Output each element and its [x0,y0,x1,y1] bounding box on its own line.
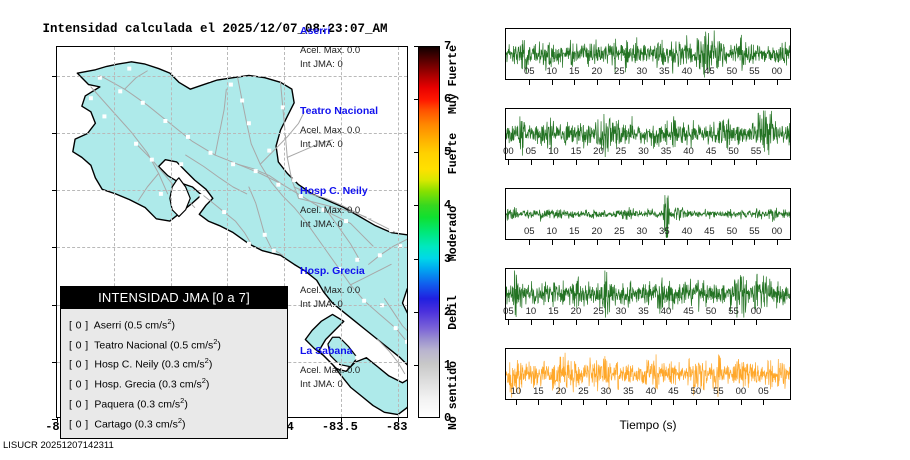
waveform-jma-intensity: Int JMA: 0 [300,379,343,390]
waveform-time-tick [732,80,733,85]
waveform-time-tick [709,240,710,245]
colorbar-category-label: Fuerte [447,133,460,174]
waveform-time-tick [734,320,735,325]
colorbar-category-label: Moderado [447,206,460,261]
legend-station-accel: 0.5 cm/s [174,339,214,351]
legend-station-accel: 0.5 cm/s [128,320,168,332]
legend-intensity-bracket: [ 0 ] [69,398,89,410]
legend-unit-exponent: 2 [178,416,182,425]
waveform-time-axis: 051015202530354045505500 [505,80,791,94]
waveform-time-tick [531,160,532,165]
legend-intensity-bracket: [ 0 ] [69,339,89,351]
waveform-time-tick [711,160,712,165]
map-xtick-label: -83 [367,420,427,434]
map-ytick [52,76,57,77]
map-ytick [52,362,57,363]
waveform-time-tick [643,320,644,325]
waveform-time-tick-label: 55 [743,146,769,157]
legend-intensity-bracket: [ 0 ] [69,379,89,391]
legend-station-row: [ 0 ] Teatro Nacional (0.5 cm/s2) [69,334,287,354]
footer-stamp: LISUCR 20251207142311 [3,440,114,451]
waveform-time-tick [741,400,742,405]
waveform-time-tick [552,240,553,245]
legend-station-name: Hosp C. Neily [94,359,158,371]
legend-header: INTENSIDAD JMA [0 a 7] [61,287,287,309]
waveform-time-tick [516,400,517,405]
map-title: Intensidad calculada el 2025/12/07_08:23… [0,22,430,36]
waveform-time-tick [576,320,577,325]
waveform-time-tick [508,160,509,165]
waveform-time-tick [598,160,599,165]
waveform-time-tick [687,240,688,245]
waveform-time-axis: 000510152025303540455055 [505,160,791,174]
waveform-time-tick [642,240,643,245]
waveform-time-axis: 101520253035404550550005 [505,400,791,414]
legend-station-accel: 0.3 cm/s [165,359,205,371]
waveform-time-tick [529,80,530,85]
waveform-max-accel: Acel. Max. 0.0 [300,125,360,136]
waveform-jma-intensity: Int JMA: 0 [300,139,343,150]
waveform-time-tick [621,160,622,165]
waveform-time-tick [538,400,539,405]
map-ytick [52,190,57,191]
legend-station-row: [ 0 ] Cartago (0.3 cm/s2) [69,413,287,433]
waveform-time-axis: 051015202530354045505500 [505,240,791,254]
waveform-time-tick [696,400,697,405]
waveform-station-name[interactable]: Hosp C. Neily [300,185,368,197]
legend-station-accel: 0.3 cm/s [162,379,202,391]
waveform-time-tick [709,80,710,85]
legend-station-list: [ 0 ] Aserri (0.5 cm/s2)[ 0 ] Teatro Nac… [61,309,287,438]
time-axis-label: Tiempo (s) [505,418,791,432]
legend-unit-exponent: 2 [213,337,217,346]
waveform-time-tick [597,240,598,245]
waveform-time-tick [756,320,757,325]
waveform-time-tick-label: 00 [743,306,769,317]
waveform-jma-intensity: Int JMA: 0 [300,59,343,70]
waveform-time-tick [621,320,622,325]
waveform-time-tick [664,240,665,245]
waveform-time-tick [576,160,577,165]
waveform-time-tick [606,400,607,405]
waveform-time-tick [651,400,652,405]
map-ytick [52,247,57,248]
legend-station-row: [ 0 ] Paquera (0.3 cm/s2) [69,393,287,413]
waveform-time-tick [619,240,620,245]
waveform-time-tick [711,320,712,325]
waveform-time-tick [777,240,778,245]
waveform-time-tick [531,320,532,325]
waveform-time-tick [561,400,562,405]
legend-station-row: [ 0 ] Hosp. Grecia (0.3 cm/s2) [69,373,287,393]
waveform-time-tick-label: 05 [750,386,776,397]
legend-station-name: Paquera [94,398,134,410]
waveform-time-tick [598,320,599,325]
waveform-time-tick [553,320,554,325]
waveform-time-axis: 051015202530354045505500 [505,320,791,334]
waveform-time-tick [642,80,643,85]
waveform-time-tick [687,80,688,85]
waveform-time-tick [664,80,665,85]
map-ytick [52,133,57,134]
colorbar-tick [414,99,418,100]
waveform-time-tick [643,160,644,165]
waveform-time-tick [529,240,530,245]
waveform-time-tick [754,80,755,85]
map-gridline-h [57,76,407,77]
waveform-time-tick [734,160,735,165]
colorbar-tick [414,365,418,366]
waveform-time-tick [574,80,575,85]
waveform-station-name[interactable]: Hosp. Grecia [300,265,365,277]
waveform-time-tick-label: 00 [764,226,790,237]
colorbar-tick [414,205,418,206]
waveform-time-tick [777,80,778,85]
legend-unit-exponent: 2 [180,396,184,405]
waveform-station-name[interactable]: La Sabana [300,345,353,357]
colorbar-gradient [418,46,440,418]
legend-station-name: Aserri [94,320,121,332]
legend-unit-exponent: 2 [205,356,209,365]
colorbar-category-label: Debil [447,296,460,331]
waveform-jma-intensity: Int JMA: 0 [300,299,343,310]
map-xtick-label: -83.5 [310,420,370,434]
map-ytick [52,305,57,306]
waveform-time-tick [508,320,509,325]
legend-unit-exponent: 2 [202,376,206,385]
waveform-time-tick [597,80,598,85]
legend-intensity-bracket: [ 0 ] [69,359,89,371]
waveform-station-name[interactable]: Aserri [300,25,330,37]
waveform-max-accel: Acel. Max. 0.0 [300,285,360,296]
colorbar-tick [414,152,418,153]
legend-station-name: Cartago [94,418,131,430]
waveform-time-tick [688,320,689,325]
legend-station-accel: 0.3 cm/s [138,418,178,430]
map-gridline-h [57,247,407,248]
legend-intensity-bracket: [ 0 ] [69,418,89,430]
waveform-time-tick [666,160,667,165]
waveform-time-tick [553,160,554,165]
waveform-max-accel: Acel. Max. 0.0 [300,45,360,56]
intensity-legend: INTENSIDAD JMA [0 a 7] [ 0 ] Aserri (0.5… [60,286,288,439]
waveform-jma-intensity: Int JMA: 0 [300,219,343,230]
waveform-time-tick [763,400,764,405]
colorbar-tick [414,312,418,313]
waveform-max-accel: Acel. Max. 0.0 [300,365,360,376]
legend-station-row: [ 0 ] Aserri (0.5 cm/s2) [69,314,287,334]
legend-station-row: [ 0 ] Hosp C. Neily (0.3 cm/s2) [69,353,287,373]
colorbar-category-label: Muy Fuerte [447,45,460,114]
waveform-time-tick [666,320,667,325]
waveform-time-tick [574,240,575,245]
waveform-time-tick [673,400,674,405]
waveform-time-tick [619,80,620,85]
legend-intensity-bracket: [ 0 ] [69,320,89,332]
legend-unit-exponent: 2 [167,317,171,326]
intensity-colorbar: 01234567No sentidoDebilModeradoFuerteMuy… [418,46,440,418]
colorbar-tick [414,46,418,47]
legend-station-accel: 0.3 cm/s [140,398,180,410]
waveform-time-tick [583,400,584,405]
waveform-time-tick [756,160,757,165]
waveform-time-tick [552,80,553,85]
waveform-station-name[interactable]: Teatro Nacional [300,105,378,117]
legend-station-name: Hosp. Grecia [94,379,155,391]
waveform-time-tick [732,240,733,245]
colorbar-tick [414,259,418,260]
waveform-time-tick [688,160,689,165]
waveform-time-tick-label: 00 [764,66,790,77]
waveform-max-accel: Acel. Max. 0.0 [300,205,360,216]
waveform-time-tick [754,240,755,245]
waveform-time-tick [628,400,629,405]
legend-station-name: Teatro Nacional [94,339,167,351]
colorbar-category-label: No sentido [447,361,460,430]
waveform-time-tick [718,400,719,405]
